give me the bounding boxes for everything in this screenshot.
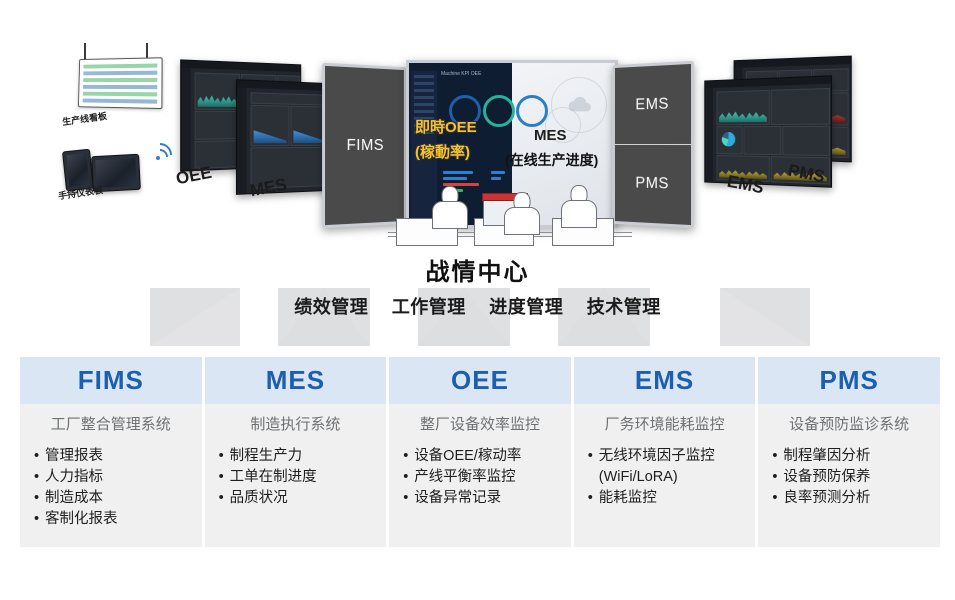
card-header-mes: MES — [205, 357, 387, 404]
card-subtitle-pms: 设备预防监诊系统 — [758, 404, 940, 442]
wifi-icon — [146, 140, 172, 162]
card-header-ems: EMS — [574, 357, 756, 404]
card-body-ems: 厂务环境能耗监控 无线环境因子监控 (WiFi/LoRA) 能耗监控 — [574, 404, 756, 547]
operator-2 — [506, 192, 538, 228]
card-code-pms: PMS — [820, 365, 879, 396]
system-card-pms[interactable]: PMS 设备预防监诊系统 制程肇因分析 设备预防保养 良率预测分析 — [755, 357, 940, 547]
card-code-oee: OEE — [451, 365, 509, 396]
card-header-fims: FIMS — [20, 357, 202, 404]
production-line-kanban-icon — [72, 58, 162, 110]
pillar-performance: 绩效管理 — [294, 297, 368, 317]
list-item: 制程肇因分析 — [772, 446, 940, 467]
overlay-mes-line1: MES — [534, 127, 567, 144]
production-line-kanban-label: 生产线看板 — [61, 109, 107, 128]
list-item: 人力指标 — [34, 467, 202, 488]
list-item: 管理报表 — [34, 446, 202, 467]
card-body-pms: 设备预防监诊系统 制程肇因分析 设备预防保养 良率预测分析 — [758, 404, 940, 547]
video-wall-panel-pms-label: PMS — [635, 175, 669, 194]
video-wall-panel-ems-label: EMS — [635, 95, 669, 114]
card-bullets-fims: 管理报表 人力指标 制造成本 客制化报表 — [20, 442, 202, 530]
list-item: 制造成本 — [34, 488, 202, 509]
video-wall-panel-fims-label: FIMS — [347, 136, 384, 154]
operator-3 — [560, 185, 598, 227]
center-title-block: 战情中心 — [0, 252, 955, 287]
system-card-oee[interactable]: OEE 整厂设备效率监控 设备OEE/稼动率 产线平衡率监控 设备异常记录 — [386, 357, 571, 547]
video-wall-panel-fims: FIMS — [322, 63, 406, 229]
overlay-oee-line2: (稼動率) — [415, 141, 470, 162]
overlay-mes-line2: (在线生产进度) — [505, 150, 598, 170]
card-code-fims: FIMS — [78, 365, 144, 396]
card-subtitle-ems: 厂务环境能耗监控 — [574, 404, 756, 442]
system-card-fims[interactable]: FIMS 工厂整合管理系统 管理报表 人力指标 制造成本 客制化报表 — [20, 357, 202, 547]
card-header-pms: PMS — [758, 357, 940, 404]
list-item: 设备异常记录 — [403, 488, 571, 509]
overlay-oee-line1: 即時OEE — [415, 116, 477, 137]
list-item: 无线环境因子监控 — [588, 446, 756, 467]
system-card-mes[interactable]: MES 制造执行系统 制程生产力 工单在制进度 品质状况 — [202, 357, 387, 547]
list-item: 良率预测分析 — [772, 488, 940, 509]
pillar-progress: 进度管理 — [489, 297, 563, 317]
list-item: 能耗监控 — [588, 488, 756, 509]
card-body-oee: 整厂设备效率监控 设备OEE/稼动率 产线平衡率监控 设备异常记录 — [389, 404, 571, 547]
list-item: 设备OEE/稼动率 — [403, 446, 571, 467]
management-pillars: 绩效管理 工作管理 进度管理 技术管理 — [0, 293, 955, 319]
pillar-work: 工作管理 — [392, 297, 466, 317]
card-code-mes: MES — [266, 365, 325, 396]
card-bullets-oee: 设备OEE/稼动率 产线平衡率监控 设备异常记录 — [389, 442, 571, 509]
list-item: 产线平衡率监控 — [403, 467, 571, 488]
pillar-technology: 技术管理 — [587, 297, 661, 317]
card-code-ems: EMS — [635, 365, 694, 396]
system-cards-row: FIMS 工厂整合管理系统 管理报表 人力指标 制造成本 客制化报表 MES 制… — [20, 357, 940, 547]
card-bullets-ems: 无线环境因子监控 (WiFi/LoRA) 能耗监控 — [574, 442, 756, 509]
operator-1 — [432, 186, 468, 226]
list-item: 工单在制进度 — [219, 467, 387, 488]
card-subtitle-oee: 整厂设备效率监控 — [389, 404, 571, 442]
iot-cloud-icon — [567, 93, 593, 119]
list-item: 制程生产力 — [219, 446, 387, 467]
card-subtitle-mes: 制造执行系统 — [205, 404, 387, 442]
page-title: 战情中心 — [0, 252, 955, 287]
card-subtitle-fims: 工厂整合管理系统 — [20, 404, 202, 442]
card-body-fims: 工厂整合管理系统 管理报表 人力指标 制造成本 客制化报表 — [20, 404, 202, 547]
list-item: 品质状况 — [219, 488, 387, 509]
card-bullets-mes: 制程生产力 工单在制进度 品质状况 — [205, 442, 387, 509]
video-wall-panel-ems-pms: EMS PMS — [612, 61, 694, 229]
system-card-ems[interactable]: EMS 厂务环境能耗监控 无线环境因子监控 (WiFi/LoRA) 能耗监控 — [571, 357, 756, 547]
list-item: 客制化报表 — [34, 509, 202, 530]
card-body-mes: 制造执行系统 制程生产力 工单在制进度 品质状况 — [205, 404, 387, 547]
list-item-continuation: (WiFi/LoRA) — [588, 467, 756, 488]
card-header-oee: OEE — [389, 357, 571, 404]
handheld-dashboard-label: 手持仪表板 — [57, 183, 103, 202]
card-bullets-pms: 制程肇因分析 设备预防保养 良率预测分析 — [758, 442, 940, 509]
list-item: 设备预防保养 — [772, 467, 940, 488]
